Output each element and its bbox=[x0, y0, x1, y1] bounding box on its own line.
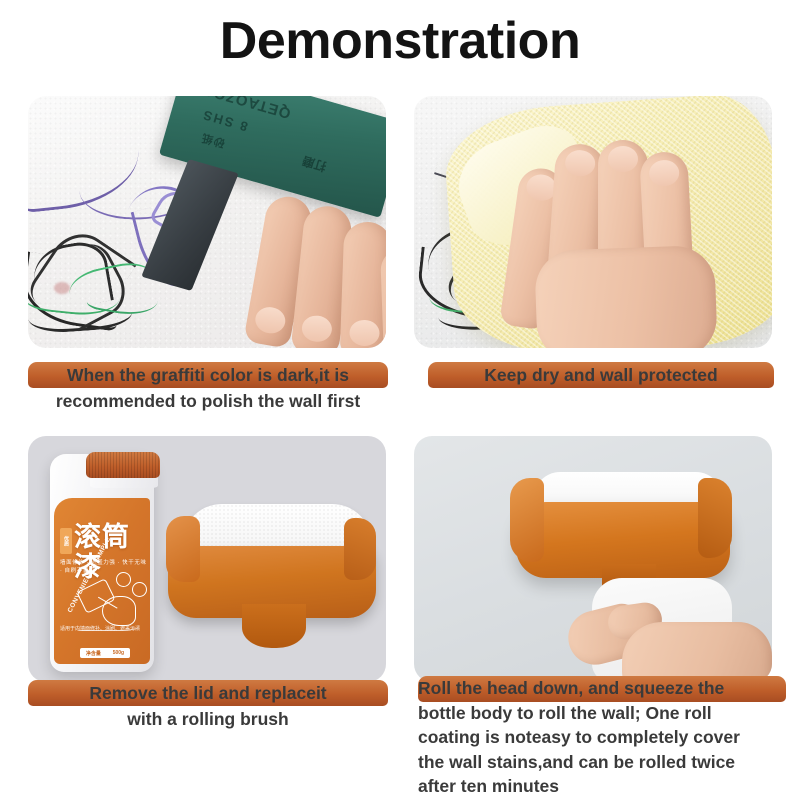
bottle-cap bbox=[86, 452, 160, 478]
label-badge: 优质 bbox=[60, 528, 72, 554]
label-info-icon bbox=[116, 572, 131, 587]
panel-sanding-image: QETAOZCC 8 SHS 打磨 砂纸 bbox=[28, 96, 386, 348]
roller-neck bbox=[242, 604, 306, 648]
panel-bottle-caption: Remove the lid and replaceit with a roll… bbox=[28, 680, 388, 706]
roller-side-arm-left bbox=[166, 516, 200, 582]
cap-ridges bbox=[86, 452, 160, 478]
paint-bottle: 优质 滚筒漆 墙面修补 · 遮盖力强 · 快干无味 · 自刷不留痕 CONVEN… bbox=[50, 454, 154, 672]
roller-side-arm-right bbox=[344, 518, 376, 580]
finger bbox=[340, 221, 386, 348]
page-title: Demonstration bbox=[0, 10, 800, 72]
caption-line: Remove the lid and replaceit bbox=[28, 680, 388, 706]
roller-side-arm-right bbox=[698, 478, 732, 558]
caption-line: Roll the head down, and squeeze the bbox=[418, 676, 786, 701]
demonstration-page: Demonstration QETAOZCC 8 SHS 打磨 砂纸 bbox=[0, 0, 800, 800]
panel-wipe-image bbox=[414, 96, 772, 348]
roller-side-arm-left bbox=[510, 478, 544, 562]
fingernail bbox=[649, 159, 680, 187]
fingernail bbox=[564, 149, 596, 177]
fingernail bbox=[301, 314, 334, 343]
bottle-label: 优质 滚筒漆 墙面修补 · 遮盖力强 · 快干无味 · 自刷不留痕 CONVEN… bbox=[54, 498, 150, 664]
caption-line: coating is noteasy to completely cover bbox=[418, 725, 786, 750]
caption-line: the wall stains,and can be rolled twice bbox=[418, 750, 786, 775]
hand bbox=[250, 192, 386, 348]
label-weight-value: 500g bbox=[113, 650, 124, 656]
sponge-print-text: 砂纸 bbox=[199, 130, 226, 152]
wall-stain bbox=[54, 282, 70, 294]
palm bbox=[622, 622, 772, 682]
palm bbox=[534, 245, 718, 348]
hand bbox=[506, 130, 736, 348]
panel-sanding-caption: When the graffiti color is dark,it is re… bbox=[28, 362, 388, 388]
roller-brush-head bbox=[168, 504, 376, 654]
sponge-print-text: 打磨 bbox=[300, 153, 328, 176]
caption-line: after ten minutes bbox=[418, 774, 786, 799]
caption-line: Keep dry and wall protected bbox=[428, 362, 774, 388]
roller-brush-head bbox=[510, 472, 734, 592]
fingernail bbox=[349, 319, 380, 346]
caption-line: bottle body to roll the wall; One roll bbox=[418, 701, 786, 726]
panel-bottle-image: 优质 滚筒漆 墙面修补 · 遮盖力强 · 快干无味 · 自刷不留痕 CONVEN… bbox=[28, 436, 386, 682]
caption-line: with a rolling brush bbox=[28, 706, 388, 732]
fingernail bbox=[253, 305, 287, 336]
label-subtitle: 墙面修补 · 遮盖力强 · 快干无味 · 自刷不留痕 bbox=[60, 558, 148, 574]
panel-rolling-caption: Roll the head down, and squeeze the bott… bbox=[418, 676, 786, 702]
hand bbox=[564, 592, 772, 682]
label-weight-tag: 净含量 500g bbox=[80, 648, 130, 658]
label-weight-caption: 净含量 bbox=[86, 650, 101, 657]
fingernail bbox=[608, 146, 638, 172]
label-warning-icon bbox=[132, 582, 147, 597]
caption-line: When the graffiti color is dark,it is bbox=[28, 362, 388, 388]
label-note: 适用于内墙面修补、涂刷、遮盖污渍 bbox=[60, 626, 146, 633]
panel-wipe-caption: Keep dry and wall protected bbox=[428, 362, 774, 388]
caption-line: recommended to polish the wall first bbox=[28, 388, 388, 414]
panel-rolling-image bbox=[414, 436, 772, 682]
